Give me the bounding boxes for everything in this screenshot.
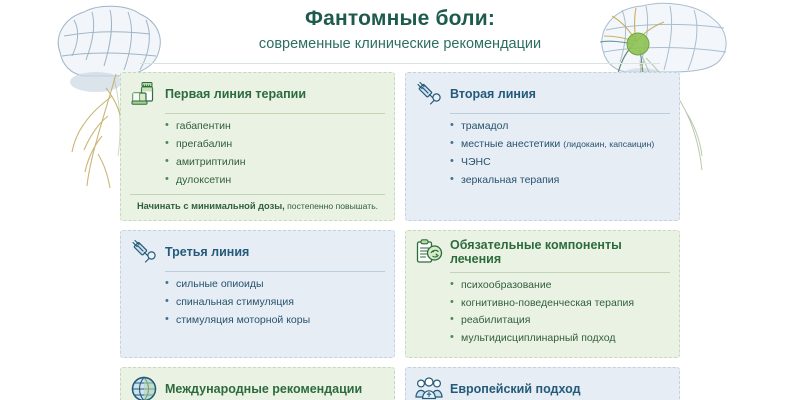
- card-divider: [450, 113, 670, 114]
- header-divider: [140, 63, 660, 64]
- card-title: Международные рекомендации: [165, 382, 362, 396]
- card-divider: [450, 272, 670, 273]
- card-divider: [165, 113, 385, 114]
- list-item-text: дулоксетин: [176, 174, 231, 186]
- card-header: Обязательные компоненты лечения: [415, 238, 670, 267]
- list-item-text: зеркальная терапия: [461, 174, 559, 186]
- list-item: габапентин: [165, 119, 385, 134]
- list-item: дулоксетин: [165, 173, 385, 188]
- list-item: стимуляция моторной коры: [165, 313, 385, 328]
- card-divider: [165, 271, 385, 272]
- card-footer-rest: постепенно повышать.: [285, 201, 378, 211]
- card-mandatory-components: Обязательные компоненты леченияпсихообра…: [405, 230, 680, 358]
- card-item-list: психообразованиекогнитивно-поведенческая…: [450, 278, 670, 347]
- list-item-text: прегабалин: [176, 138, 232, 150]
- card-header: Первая линия терапии: [130, 80, 385, 108]
- card-first-line: Первая линия терапиигабапентинпрегабалин…: [120, 72, 395, 221]
- list-item-text: когнитивно-поведенческая терапия: [461, 297, 634, 309]
- page-title: Фантомные боли:: [0, 6, 800, 32]
- clipboard-head-icon: [415, 238, 443, 266]
- card-header: Международные рекомендации: [130, 375, 385, 400]
- list-item-text: амитриптилин: [176, 156, 246, 168]
- pill-bottle-icon: [130, 80, 158, 108]
- list-item: зеркальная терапия: [450, 173, 670, 188]
- list-item-note: (лидокаин, капсаицин): [563, 139, 654, 149]
- list-item: ЧЭНС: [450, 155, 670, 170]
- cards-grid: Первая линия терапиигабапентинпрегабалин…: [120, 72, 680, 400]
- list-item: реабилитация: [450, 313, 670, 328]
- card-header: Вторая линия: [415, 80, 670, 108]
- list-item-text: психообразование: [461, 279, 552, 291]
- list-item: прегабалин: [165, 137, 385, 152]
- card-footer-note: Начинать с минимальной дозы, постепенно …: [130, 194, 385, 212]
- list-item: спинальная стимуляция: [165, 295, 385, 310]
- card-title: Третья линия: [165, 245, 249, 259]
- list-item-text: трамадол: [461, 120, 508, 132]
- list-item-text: сильные опиоиды: [176, 278, 264, 290]
- syringe-icon: [130, 238, 158, 266]
- list-item: психообразование: [450, 278, 670, 293]
- list-item: трамадол: [450, 119, 670, 134]
- list-item-text: местные анестетики: [461, 138, 563, 150]
- card-title: Обязательные компоненты лечения: [450, 238, 670, 267]
- card-header: Третья линия: [130, 238, 385, 266]
- card-title: Европейский подход: [450, 382, 581, 396]
- card-item-list: сильные опиоидыспинальная стимуляциястим…: [165, 277, 385, 328]
- card-item-list: габапентинпрегабалинамитриптилиндулоксет…: [165, 119, 385, 188]
- list-item: когнитивно-поведенческая терапия: [450, 296, 670, 311]
- card-third-line: Третья линиясильные опиоидыспинальная ст…: [120, 230, 395, 358]
- list-item: амитриптилин: [165, 155, 385, 170]
- card-title: Вторая линия: [450, 87, 536, 101]
- list-item-text: мультидисциплинарный подход: [461, 332, 616, 344]
- card-title: Первая линия терапии: [165, 87, 306, 101]
- card-footer-emphasis: Начинать с минимальной дозы,: [137, 201, 285, 211]
- list-item-text: реабилитация: [461, 314, 531, 326]
- card-european-approach: Европейский подходкоманда специалистов (…: [405, 367, 680, 400]
- card-international-recommendations: Международные рекомендациираннее начало …: [120, 367, 395, 400]
- card-second-line: Вторая линиятрамадолместные анестетики (…: [405, 72, 680, 221]
- list-item-text: стимуляция моторной коры: [176, 314, 310, 326]
- syringe-icon: [415, 80, 443, 108]
- page-header: Фантомные боли: современные клинические …: [0, 0, 800, 64]
- card-item-list: трамадолместные анестетики (лидокаин, ка…: [450, 119, 670, 188]
- list-item: мультидисциплинарный подход: [450, 331, 670, 346]
- list-item: сильные опиоиды: [165, 277, 385, 292]
- page-subtitle: современные клинические рекомендации: [0, 35, 800, 54]
- globe-icon: [130, 375, 158, 400]
- list-item-text: габапентин: [176, 120, 231, 132]
- list-item: местные анестетики (лидокаин, капсаицин): [450, 137, 670, 152]
- medical-team-icon: [415, 375, 443, 400]
- list-item-text: ЧЭНС: [461, 156, 491, 168]
- list-item-text: спинальная стимуляция: [176, 296, 294, 308]
- card-header: Европейский подход: [415, 375, 670, 400]
